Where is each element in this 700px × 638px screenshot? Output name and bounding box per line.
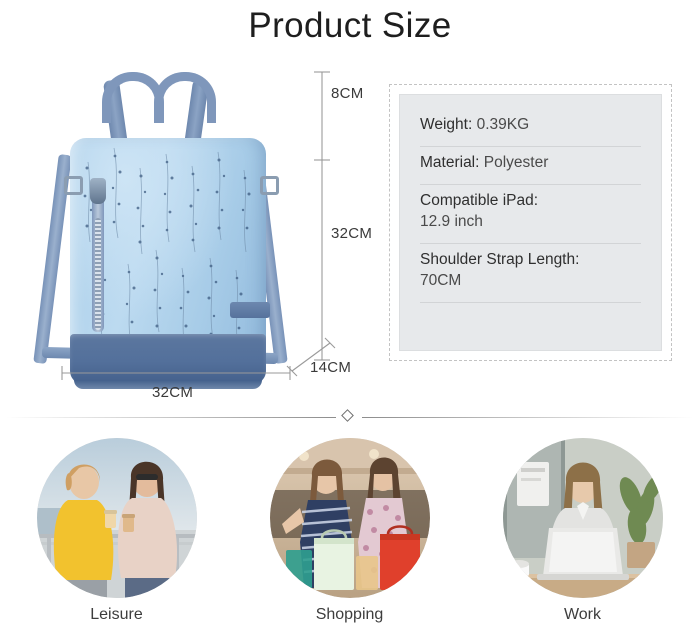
spec-label-shoulder-strap-length: Shoulder Strap Length: — [420, 251, 579, 268]
spec-value-compatible-ipad: 12.9 inch — [420, 213, 483, 230]
divider-line-left — [6, 417, 336, 418]
spec-value-weight: 0.39KG — [477, 116, 530, 133]
backpack-bottom-panel — [70, 334, 266, 384]
scene-work-photo — [503, 438, 663, 598]
side-accent-strap — [230, 302, 270, 318]
d-ring-right — [260, 176, 279, 195]
spec-row-material: Material: Polyester — [420, 147, 641, 185]
specs-panel: Weight: 0.39KG Material: Polyester Compa… — [399, 94, 662, 351]
spec-value-shoulder-strap-length: 70CM — [420, 272, 461, 289]
scene-shopping-photo — [270, 438, 430, 598]
scene-leisure: Leisure — [0, 436, 233, 638]
specs-panel-border: Weight: 0.39KG Material: Polyester Compa… — [389, 84, 672, 361]
spec-row-weight: Weight: 0.39KG — [420, 109, 641, 147]
spec-label-compatible-ipad: Compatible iPad: — [420, 192, 538, 209]
d-ring-left — [64, 176, 83, 195]
scene-leisure-photo — [37, 438, 197, 598]
dimension-label-height-body: 32CM — [331, 225, 372, 242]
dimension-label-height-top: 8CM — [331, 85, 364, 102]
usage-scenes: Leisure — [0, 436, 700, 638]
diamond-icon — [341, 409, 354, 422]
spec-label-material: Material: — [420, 154, 479, 171]
top-handle-right — [154, 72, 216, 123]
zipper-teeth — [95, 218, 101, 330]
scene-shopping-caption: Shopping — [233, 606, 466, 624]
leisure-illustration-icon — [37, 438, 197, 598]
scene-leisure-caption: Leisure — [0, 606, 233, 624]
spec-value-material: Polyester — [484, 154, 549, 171]
spec-row-compatible-ipad: Compatible iPad: 12.9 inch — [420, 185, 641, 244]
shopping-illustration-icon — [270, 438, 430, 598]
page-title: Product Size — [0, 6, 700, 46]
dimension-label-depth: 14CM — [310, 359, 351, 376]
work-illustration-icon — [503, 438, 663, 598]
dimension-label-width: 32CM — [152, 384, 193, 401]
scene-shopping: Shopping — [233, 436, 466, 638]
divider-line-right — [362, 417, 694, 418]
section-divider — [0, 406, 700, 430]
scene-work-caption: Work — [466, 606, 699, 624]
spec-label-weight: Weight: — [420, 116, 472, 133]
scene-work: Work — [466, 436, 699, 638]
product-image — [34, 58, 324, 388]
spec-row-shoulder-strap-length: Shoulder Strap Length: 70CM — [420, 244, 641, 303]
zipper-pull-icon — [90, 178, 106, 204]
